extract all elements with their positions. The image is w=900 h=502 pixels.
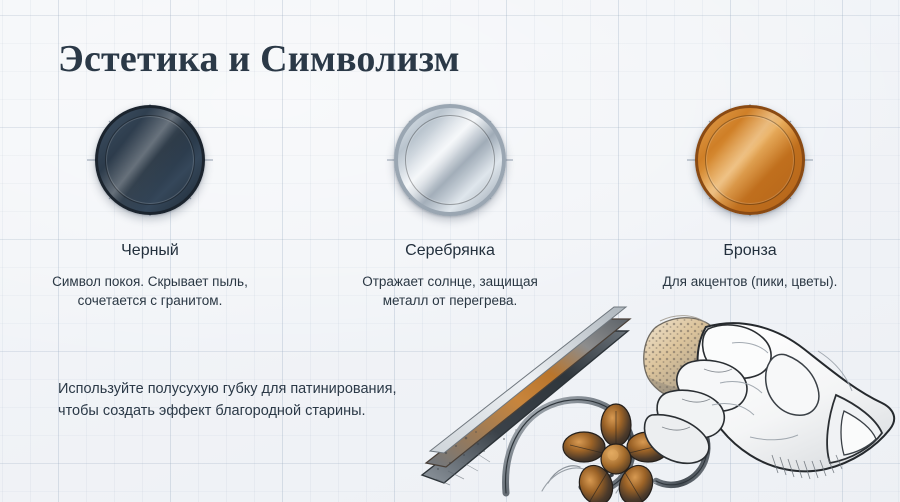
disc-gloss <box>98 108 202 212</box>
page-title: Эстетика и Символизм <box>58 37 460 81</box>
swatch-disc-silver-wrap <box>387 104 513 216</box>
wrought-iron-scrollwork <box>506 400 708 502</box>
swatch-description-bronze: Для акцентов (пики, цветы). <box>663 272 838 291</box>
swatch-column-bronze[interactable]: Бронза Для акцентов (пики, цветы). <box>600 104 900 310</box>
swatch-column-silver[interactable]: Серебрянка Отражает солнце, защищая мета… <box>300 104 600 310</box>
swatch-disc-black[interactable] <box>95 105 205 215</box>
swatch-row: Черный Символ покоя. Скрывает пыль, соче… <box>0 104 900 310</box>
bronze-flower-ornament <box>563 404 669 502</box>
disc-gloss <box>398 108 502 212</box>
disc-gloss <box>698 108 802 212</box>
swatch-name-bronze: Бронза <box>723 242 776 260</box>
gloved-hand <box>645 323 895 479</box>
swatch-disc-bronze-wrap <box>687 104 813 216</box>
swatch-description-silver: Отражает солнце, защищая металл от перег… <box>362 272 538 310</box>
gloved-hand-patinating-illustration <box>420 287 900 502</box>
swatch-name-black: Черный <box>121 242 179 260</box>
swatch-disc-silver[interactable] <box>394 104 506 216</box>
swatch-column-black[interactable]: Черный Символ покоя. Скрывает пыль, соче… <box>0 104 300 310</box>
railing-bar <box>422 307 630 485</box>
slide-canvas: Эстетика и Символизм <box>0 0 900 502</box>
swatch-description-black: Символ покоя. Скрывает пыль, сочетается … <box>52 272 248 310</box>
patina-sponge <box>642 313 738 407</box>
swatch-disc-black-wrap <box>87 104 213 216</box>
patina-tip-text: Используйте полусухую губку для патиниро… <box>58 378 397 423</box>
swatch-disc-bronze[interactable] <box>695 105 805 215</box>
swatch-name-silver: Серебрянка <box>405 242 495 260</box>
